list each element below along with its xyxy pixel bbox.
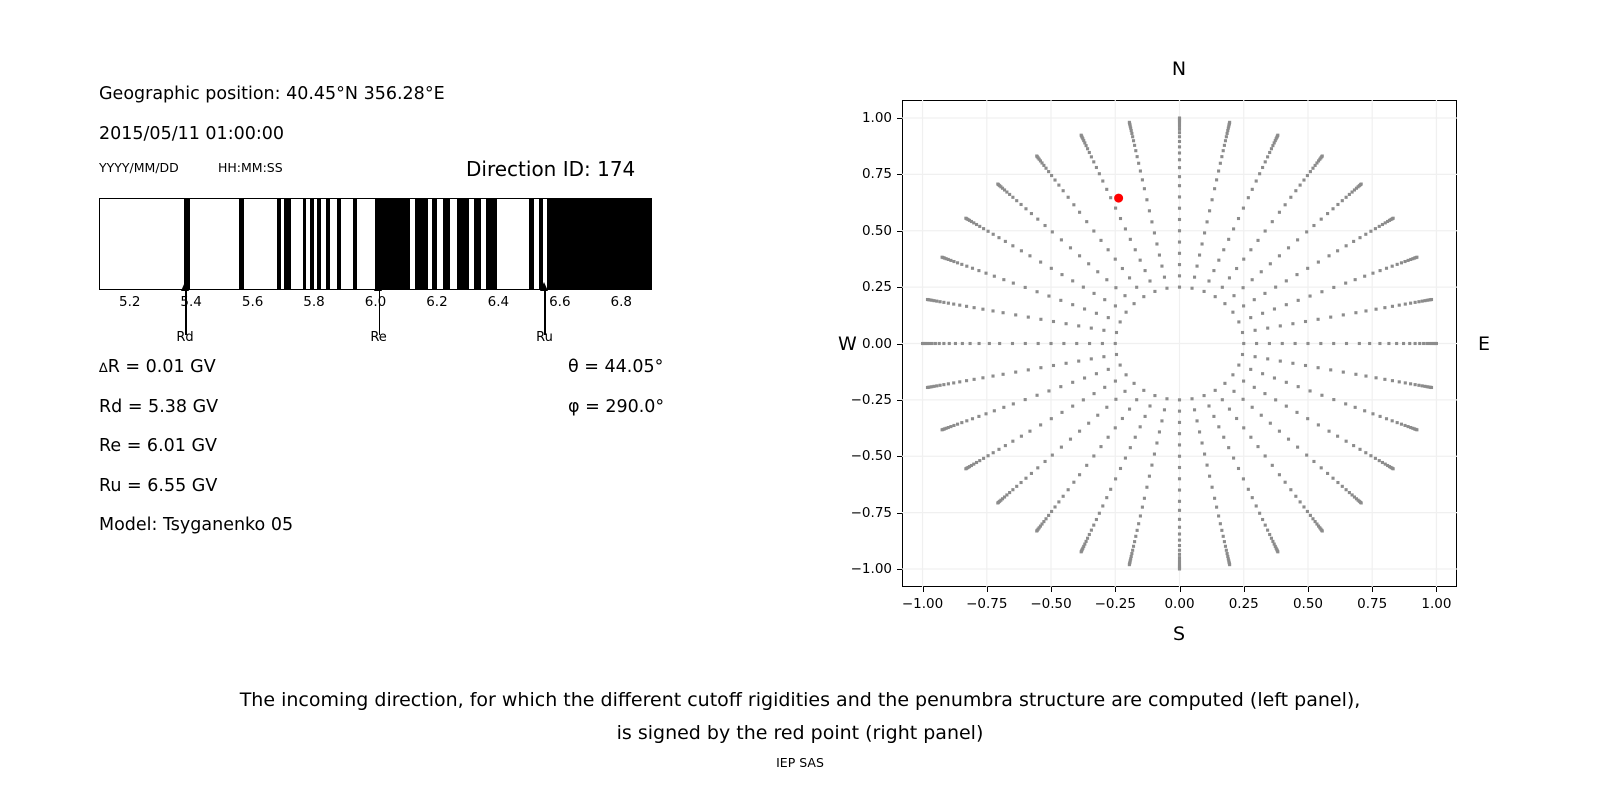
direction-point	[1414, 383, 1417, 386]
direction-point	[1264, 160, 1267, 163]
direction-point	[1375, 376, 1378, 379]
rigidity-axis: 5.25.45.65.86.06.26.46.66.8RdReRu	[99, 290, 652, 352]
direction-point	[1264, 229, 1267, 232]
direction-point	[1206, 220, 1209, 223]
direction-point	[1251, 278, 1254, 281]
direction-point	[1255, 504, 1258, 507]
direction-point	[1065, 322, 1068, 325]
direction-point	[1391, 419, 1394, 422]
direction-point	[1345, 244, 1348, 247]
direction-point	[1178, 500, 1181, 503]
direction-point	[1278, 430, 1281, 433]
penumbra-forbidden-band	[303, 199, 307, 289]
axis-tick-mark-y	[897, 344, 902, 345]
direction-point	[1115, 331, 1118, 334]
direction-point	[1062, 189, 1065, 192]
direction-point	[952, 303, 955, 306]
direction-point	[1208, 209, 1211, 212]
direction-point	[1163, 408, 1166, 411]
direction-point	[1039, 318, 1042, 321]
direction-point	[1178, 455, 1181, 458]
axis-tick-mark-x	[1436, 587, 1437, 592]
direction-point	[1225, 135, 1228, 138]
direction-point	[973, 378, 976, 381]
direction-point	[1039, 366, 1042, 369]
direction-point	[1255, 179, 1258, 182]
direction-point	[1212, 269, 1215, 272]
direction-point	[1178, 398, 1181, 401]
direction-point	[1287, 246, 1290, 249]
direction-point	[1224, 545, 1227, 548]
direction-point	[1336, 435, 1339, 438]
direction-point	[1178, 443, 1181, 446]
direction-point	[1095, 372, 1098, 375]
direction-point	[1004, 444, 1007, 447]
axis-tick-mark-x	[1115, 587, 1116, 592]
direction-point	[1069, 246, 1072, 249]
direction-point	[991, 374, 994, 377]
direction-point	[1201, 441, 1204, 444]
direction-point	[1381, 461, 1384, 464]
direction-point	[1178, 252, 1181, 255]
direction-point	[1299, 184, 1302, 187]
angle-line: θ = 44.05°	[568, 354, 654, 394]
direction-point	[1134, 535, 1137, 538]
direction-point	[1080, 550, 1083, 553]
direction-point	[1129, 238, 1132, 241]
direction-point	[1002, 278, 1005, 281]
direction-point	[1206, 464, 1209, 467]
direction-point	[1317, 318, 1320, 321]
direction-point	[1178, 553, 1181, 556]
direction-point	[1294, 495, 1297, 498]
direction-point	[1096, 414, 1099, 417]
direction-point	[1311, 167, 1314, 170]
direction-point	[1297, 299, 1300, 302]
direction-point	[965, 265, 968, 268]
direction-point	[1358, 342, 1361, 345]
direction-point	[1062, 495, 1065, 498]
axis-tick-mark-y	[897, 287, 902, 288]
direction-point	[1011, 488, 1014, 491]
direction-point	[1080, 134, 1083, 137]
direction-point	[1414, 301, 1417, 304]
axis-tick-label-y: 0.00	[840, 336, 892, 352]
compass-label-east: E	[1478, 333, 1490, 355]
direction-point	[1332, 286, 1335, 289]
direction-point	[1129, 446, 1132, 449]
direction-point	[956, 261, 959, 264]
direction-point	[1131, 135, 1134, 138]
direction-point	[1178, 532, 1181, 535]
direction-point	[952, 260, 955, 263]
direction-point	[1002, 406, 1005, 409]
direction-point	[975, 223, 978, 226]
direction-point	[1220, 155, 1223, 158]
direction-point	[1249, 436, 1252, 439]
penumbra-forbidden-band	[432, 199, 436, 289]
direction-point	[964, 217, 967, 220]
direction-point	[1295, 411, 1298, 414]
direction-point	[1092, 229, 1095, 232]
direction-point	[978, 459, 981, 462]
direction-point	[1342, 371, 1345, 374]
direction-point	[1327, 254, 1330, 257]
penumbra-forbidden-band	[284, 199, 291, 289]
direction-point	[935, 384, 938, 387]
direction-point	[1421, 300, 1424, 303]
direction-point	[948, 342, 951, 345]
direction-point	[1345, 196, 1348, 199]
direction-point	[941, 428, 944, 431]
direction-point	[965, 305, 968, 308]
direction-point	[1219, 162, 1222, 165]
direction-point	[1223, 540, 1226, 543]
direction-point	[1109, 196, 1112, 199]
direction-point	[1261, 372, 1264, 375]
direction-point	[1178, 410, 1181, 413]
direction-point	[1047, 170, 1050, 173]
direction-point	[1304, 364, 1307, 367]
direction-point	[1242, 258, 1245, 261]
direction-point	[1178, 544, 1181, 547]
direction-point	[1332, 398, 1335, 401]
direction-point	[1135, 286, 1138, 289]
direction-point	[1155, 441, 1158, 444]
direction-point	[1107, 248, 1110, 251]
geographic-position-label: Geographic position: 40.45°N 356.28°E	[99, 84, 445, 104]
direction-point	[988, 342, 991, 345]
direction-point	[1178, 477, 1181, 480]
direction-point	[1378, 459, 1381, 462]
direction-point	[1281, 342, 1284, 345]
direction-point	[938, 342, 941, 345]
direction-point	[1024, 207, 1027, 210]
direction-point	[1050, 267, 1053, 270]
direction-point	[1251, 188, 1254, 191]
direction-point	[1409, 382, 1412, 385]
direction-point	[1331, 207, 1334, 210]
direction-point	[1227, 446, 1230, 449]
direction-point	[1363, 275, 1366, 278]
direction-point	[1242, 380, 1245, 383]
rigidity-tick-label: 6.4	[488, 294, 509, 310]
direction-point	[975, 461, 978, 464]
direction-point	[1207, 279, 1210, 282]
axis-tick-mark-x	[1308, 587, 1309, 592]
direction-point	[1258, 172, 1261, 175]
direction-point	[1256, 445, 1259, 448]
direction-point	[1385, 417, 1388, 420]
selected-direction-point[interactable]	[1114, 194, 1123, 203]
direction-point	[1336, 249, 1339, 252]
direction-point	[1119, 217, 1122, 220]
direction-point	[1160, 265, 1163, 268]
direction-point	[1130, 552, 1133, 555]
direction-point	[1082, 398, 1085, 401]
direction-point	[1422, 342, 1425, 345]
angle-line: φ = 290.0°	[568, 394, 654, 434]
direction-point	[1273, 307, 1276, 310]
direction-point	[1071, 405, 1074, 408]
direction-point	[1039, 261, 1042, 264]
direction-point	[1326, 472, 1329, 475]
direction-point	[1317, 423, 1320, 426]
direction-point	[1027, 316, 1030, 319]
penumbra-forbidden-band	[337, 199, 341, 289]
direction-point	[1114, 304, 1117, 307]
penumbra-forbidden-band	[415, 199, 429, 289]
direction-point	[1360, 183, 1363, 186]
axis-tick-mark-y	[897, 174, 902, 175]
direction-point	[1107, 316, 1110, 319]
direction-point	[1396, 421, 1399, 424]
axis-tick-label-x: 0.25	[1229, 596, 1259, 612]
direction-point	[1178, 526, 1181, 529]
direction-point	[1414, 342, 1417, 345]
direction-point	[1128, 563, 1131, 566]
direction-point	[1036, 394, 1039, 397]
direction-point	[1276, 134, 1279, 137]
direction-point	[1309, 170, 1312, 173]
direction-point	[1115, 353, 1118, 356]
direction-point	[1268, 151, 1271, 154]
marker-stem	[379, 289, 381, 335]
axis-tick-label-y: −0.75	[840, 505, 892, 521]
direction-point	[1139, 259, 1142, 262]
axis-tick-label-y: 1.00	[840, 110, 892, 126]
direction-point	[1321, 529, 1324, 532]
direction-point	[993, 275, 996, 278]
direction-point	[1011, 196, 1014, 199]
direction-point	[1408, 342, 1411, 345]
direction-point	[1050, 417, 1053, 420]
direction-point	[1268, 342, 1271, 345]
direction-point	[977, 269, 980, 272]
direction-point	[1237, 364, 1240, 367]
direction-point	[1317, 366, 1320, 369]
direction-point	[1114, 207, 1117, 210]
direction-point	[997, 236, 1000, 239]
direction-point	[981, 308, 984, 311]
direction-point	[1121, 267, 1124, 270]
direction-point	[1044, 517, 1047, 520]
penumbra-forbidden-band	[310, 199, 314, 289]
direction-point	[1020, 249, 1023, 252]
direction-point	[1326, 212, 1329, 215]
direction-point	[1133, 540, 1136, 543]
penumbra-bar	[99, 198, 652, 290]
direction-point	[1261, 518, 1264, 521]
direction-point	[1178, 131, 1181, 134]
direction-point	[1024, 398, 1027, 401]
direction-point	[1160, 419, 1163, 422]
direction-point	[939, 300, 942, 303]
direction-point	[1217, 514, 1220, 517]
direction-point	[1119, 320, 1122, 323]
direction-point	[1287, 438, 1290, 441]
direction-point	[1114, 426, 1117, 429]
caption-line-2: is signed by the red point (right panel)	[0, 717, 1600, 750]
direction-point	[942, 383, 945, 386]
direction-point	[1178, 466, 1181, 469]
direction-point	[1320, 290, 1323, 293]
direction-point	[978, 225, 981, 228]
direction-point	[1391, 265, 1394, 268]
direction-point	[1088, 151, 1091, 154]
direction-point	[1141, 506, 1144, 509]
direction-point	[942, 342, 945, 345]
direction-point	[1137, 162, 1140, 165]
marker-label: Ru	[536, 330, 553, 345]
direction-point	[1306, 267, 1309, 270]
direction-point	[1135, 398, 1138, 401]
direction-point	[1099, 445, 1102, 448]
direction-point	[1153, 231, 1156, 234]
direction-point	[1242, 342, 1245, 345]
direction-point	[1215, 506, 1218, 509]
direction-id-label: Direction ID: 174	[466, 157, 635, 181]
direction-point	[1030, 472, 1033, 475]
direction-point	[1222, 248, 1225, 251]
direction-point	[1092, 392, 1095, 395]
direction-point	[1035, 529, 1038, 532]
direction-point	[1092, 160, 1095, 163]
direction-point	[1228, 408, 1231, 411]
direction-point	[1263, 292, 1266, 295]
direction-point	[1178, 229, 1181, 232]
figure-caption: The incoming direction, for which the di…	[0, 684, 1600, 750]
direction-point	[1059, 385, 1062, 388]
direction-point	[1348, 491, 1351, 494]
direction-point	[935, 300, 938, 303]
direction-point	[960, 263, 963, 266]
direction-point	[1131, 549, 1134, 552]
direction-point	[1114, 477, 1117, 480]
axis-tick-mark-x	[1051, 587, 1052, 592]
direction-point	[1395, 342, 1398, 345]
direction-point	[1232, 227, 1235, 230]
direction-point	[1415, 428, 1418, 431]
direction-point	[1047, 514, 1050, 517]
rigidity-tick-label: 6.6	[549, 294, 570, 310]
axis-tick-mark-y	[897, 231, 902, 232]
direction-point	[1203, 394, 1206, 397]
direction-point	[1059, 299, 1062, 302]
direction-point	[939, 384, 942, 387]
direction-point	[1421, 384, 1424, 387]
axis-tick-label-y: 0.25	[840, 279, 892, 295]
direction-point	[1050, 510, 1053, 513]
direction-point	[1242, 304, 1245, 307]
direction-point	[1251, 406, 1254, 409]
direction-point	[1178, 151, 1181, 154]
penumbra-spectrum	[99, 198, 652, 290]
direction-point	[1285, 279, 1288, 282]
direction-point	[996, 183, 999, 186]
direction-point	[1044, 224, 1047, 227]
direction-point	[1085, 144, 1088, 147]
direction-point	[1327, 430, 1330, 433]
direction-point	[1312, 460, 1315, 463]
direction-point	[1044, 167, 1047, 170]
direction-point	[1345, 440, 1348, 443]
direction-point	[1133, 302, 1136, 305]
direction-point	[1224, 139, 1227, 142]
direction-point	[981, 376, 984, 379]
direction-point	[971, 417, 974, 420]
direction-point	[1379, 269, 1382, 272]
footer-credit: IEP SAS	[0, 755, 1600, 770]
direction-point	[1271, 540, 1274, 543]
direction-point	[1060, 411, 1063, 414]
direction-point	[1309, 389, 1312, 392]
direction-point	[1178, 567, 1181, 570]
direction-point	[1139, 169, 1142, 172]
direction-point	[1090, 327, 1093, 330]
direction-point	[1087, 262, 1090, 265]
direction-point	[1155, 242, 1158, 245]
direction-point	[1237, 320, 1240, 323]
direction-point	[1002, 311, 1005, 314]
direction-point	[1264, 524, 1267, 527]
direction-point	[1198, 430, 1201, 433]
direction-point	[1296, 446, 1299, 449]
direction-point	[1015, 199, 1018, 202]
direction-point	[1121, 417, 1124, 420]
direction-point	[1101, 179, 1104, 182]
direction-point	[1266, 155, 1269, 158]
direction-point	[1098, 512, 1101, 515]
penumbra-forbidden-band	[529, 199, 534, 289]
axis-tick-label-x: −0.50	[1030, 596, 1071, 612]
direction-point	[1417, 300, 1420, 303]
axis-tick-label-x: 0.00	[1164, 596, 1194, 612]
direction-point	[1078, 473, 1081, 476]
direction-point	[1223, 302, 1226, 305]
direction-point	[1211, 486, 1214, 489]
time-format-hint: HH:MM:SS	[218, 160, 283, 175]
direction-point	[1379, 415, 1382, 418]
direction-point	[1067, 488, 1070, 491]
direction-point	[1235, 417, 1238, 420]
penumbra-forbidden-band	[375, 199, 410, 289]
direction-point	[934, 342, 937, 345]
axis-tick-mark-y	[897, 513, 902, 514]
direction-point	[1305, 454, 1308, 457]
direction-point	[1352, 444, 1355, 447]
direction-point	[1392, 217, 1395, 220]
direction-point	[1086, 147, 1089, 150]
direction-point	[1329, 368, 1332, 371]
direction-point	[1317, 261, 1320, 264]
direction-point	[1306, 342, 1309, 345]
rigidity-tick-label: 6.0	[365, 294, 386, 310]
rigidity-tick-label: 5.2	[119, 294, 140, 310]
direction-point	[1178, 166, 1181, 169]
direction-point	[1107, 368, 1110, 371]
direction-point	[1249, 368, 1252, 371]
direction-point	[1142, 295, 1145, 298]
direction-point	[1114, 258, 1117, 261]
sky-direction-map	[902, 100, 1457, 587]
direction-point	[1141, 178, 1144, 181]
direction-point	[1415, 256, 1418, 259]
direction-point	[1036, 290, 1039, 293]
axis-tick-mark-x	[1180, 587, 1181, 592]
direction-point	[1028, 254, 1031, 257]
direction-point	[1133, 382, 1136, 385]
